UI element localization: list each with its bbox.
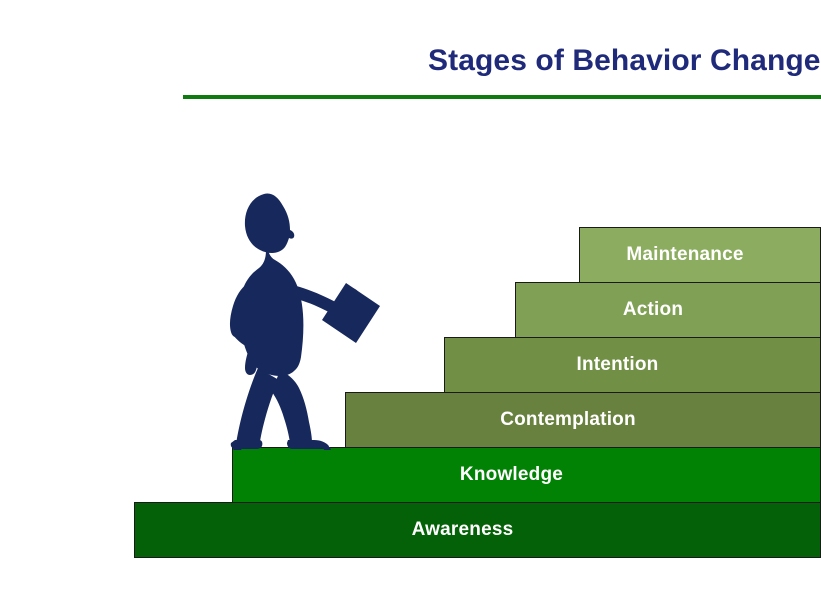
businesswoman-silhouette-svg bbox=[228, 188, 388, 450]
step-label-awareness: Awareness bbox=[412, 519, 544, 541]
businesswoman-silhouette-icon bbox=[228, 188, 388, 450]
step-maintenance[interactable]: Maintenance bbox=[579, 227, 821, 283]
step-label-action: Action bbox=[623, 299, 713, 321]
step-label-contemplation: Contemplation bbox=[500, 409, 666, 431]
step-awareness[interactable]: Awareness bbox=[134, 502, 821, 558]
step-action[interactable]: Action bbox=[515, 282, 821, 338]
step-label-knowledge: Knowledge bbox=[460, 464, 593, 486]
staircase-diagram: Awareness Knowledge Contemplation Intent… bbox=[0, 0, 821, 613]
step-label-maintenance: Maintenance bbox=[626, 244, 773, 266]
step-intention[interactable]: Intention bbox=[444, 337, 821, 393]
step-contemplation[interactable]: Contemplation bbox=[345, 392, 821, 448]
step-knowledge[interactable]: Knowledge bbox=[232, 447, 821, 503]
step-label-intention: Intention bbox=[576, 354, 688, 376]
slide-canvas: Stages of Behavior Change Awareness Know… bbox=[0, 0, 821, 613]
